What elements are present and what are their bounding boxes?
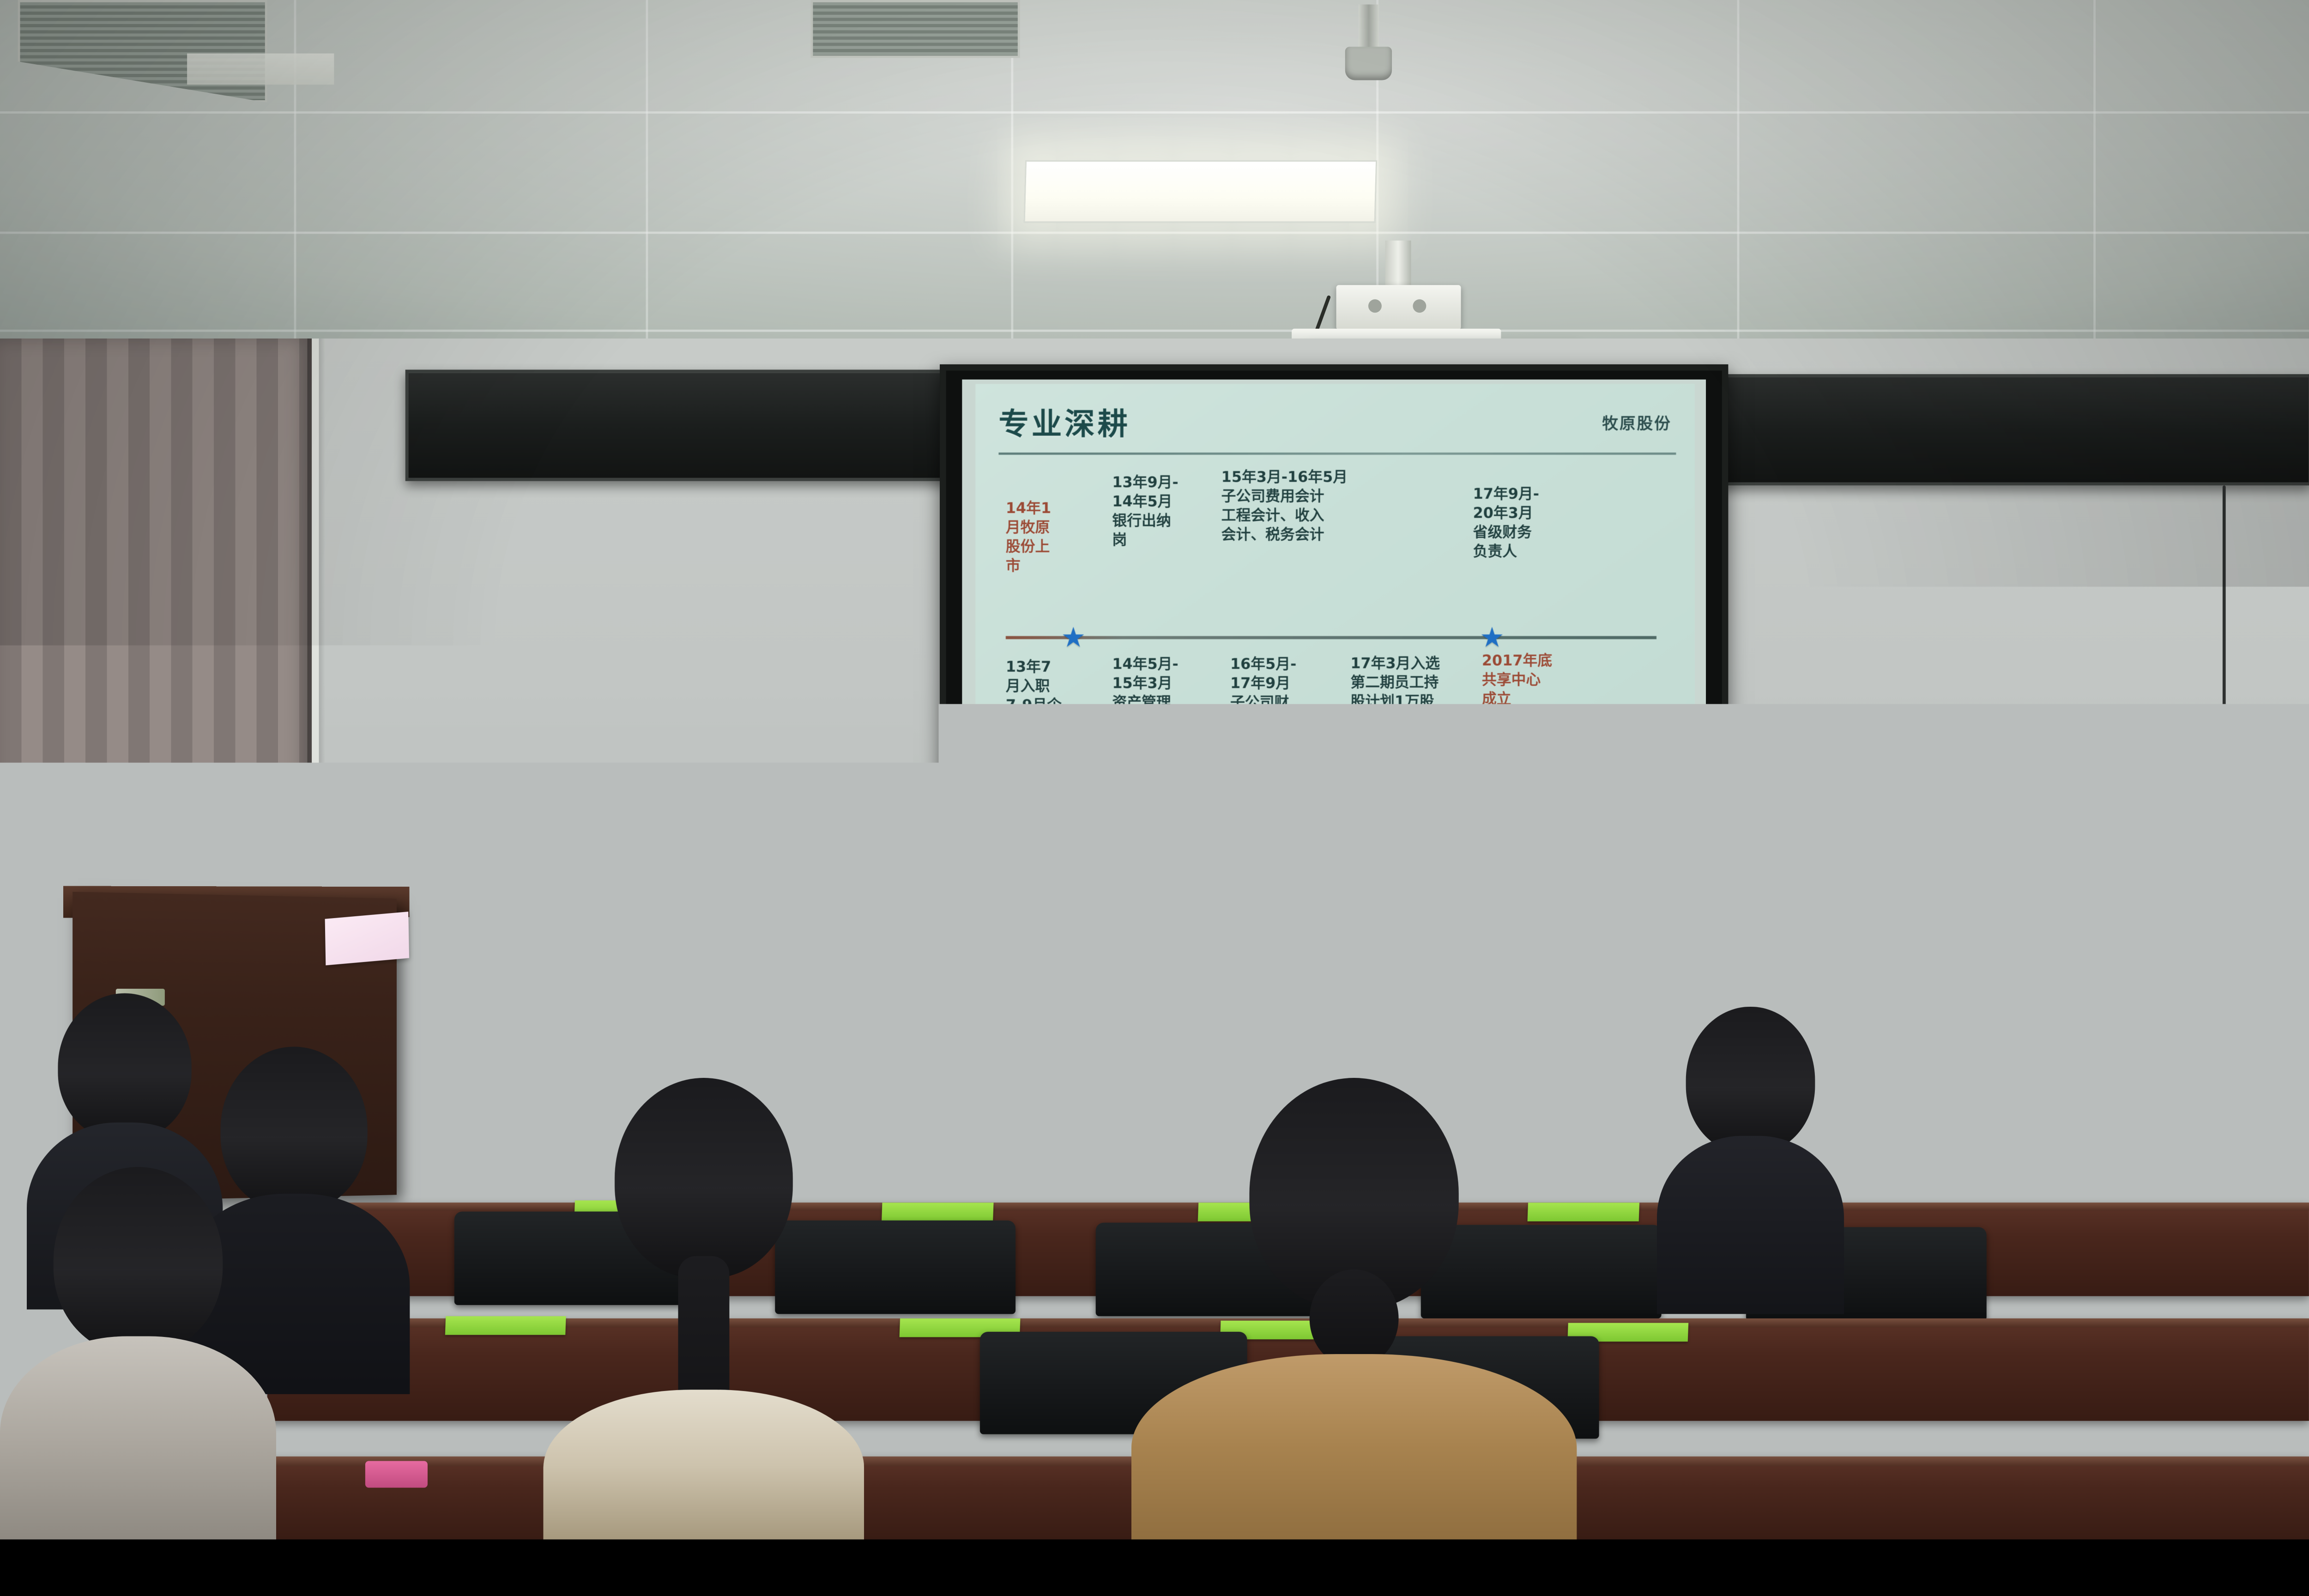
lecture-hall-scene: EPSON 专业深耕 牧原股份 ★ ★ 14年1 月牧原 股份上 市 13年9月… xyxy=(0,0,2309,1539)
ceiling-light-secondary xyxy=(187,54,334,85)
audience-torso xyxy=(1621,1421,1898,1540)
bracket-hole xyxy=(1368,299,1382,313)
timeline-entry: 2017年底 共享中心 成立 从核算财 务到业务 财务转型 xyxy=(1482,651,1593,766)
slide-header: 专业深耕 牧原股份 xyxy=(998,399,1676,458)
audience-member xyxy=(1862,1140,2111,1539)
audience-head xyxy=(615,1078,793,1278)
audience-member xyxy=(0,1167,276,1539)
timeline-entry: 15年3月-16年5月 子公司费用会计 工程会计、收入 会计、税务会计 xyxy=(1221,468,1413,544)
desk-item-pink xyxy=(365,1461,428,1488)
presentation-slide: 专业深耕 牧原股份 ★ ★ 14年1 月牧原 股份上 市 13年9月- 14年5… xyxy=(975,384,1695,856)
timeline-row-bottom: 13年7 月入职 7-9月企 业文化 培训 14年5月- 15年3月 资产管理 … xyxy=(998,645,1676,850)
bracket-hole xyxy=(1413,299,1426,313)
audience-head xyxy=(1686,1007,1815,1154)
ceiling-light-panel xyxy=(1024,160,1377,223)
audience-torso xyxy=(544,1390,864,1539)
audience-head xyxy=(54,1167,223,1354)
sprinkler-head-icon xyxy=(1345,47,1392,80)
presenter-fringe xyxy=(326,790,408,823)
projector-mount-bracket xyxy=(1336,285,1461,329)
timeline-axis xyxy=(1006,636,1656,639)
presenter-mouth xyxy=(357,853,377,860)
audience-member xyxy=(544,1078,864,1539)
presenter-eye xyxy=(373,828,387,832)
timeline-entry: 13年7 月入职 7-9月企 业文化 培训 xyxy=(1006,658,1095,753)
timeline-entry: 17年3月入选 第二期员工持 股计划1万股 17年7月入选 第三期员工持 股计划 xyxy=(1350,654,1484,768)
timeline-entry: 16年5月- 17年9月 子公司财 务负责人 xyxy=(1230,655,1342,731)
hair-clip-icon xyxy=(1960,1251,2004,1309)
timeline-entry: 13年9月- 14年5月 银行出纳 岗 xyxy=(1112,473,1219,549)
timeline-entry: 14年5月- 15年3月 资产管理 岗 xyxy=(1112,655,1223,731)
company-logo-text: 牧原股份 xyxy=(1602,411,1671,434)
audience-torso xyxy=(1862,1327,2111,1539)
wall-cable xyxy=(2223,485,2226,877)
audience-torso xyxy=(0,1336,276,1540)
audience-head xyxy=(1666,1229,1853,1439)
presenter-eye xyxy=(345,828,358,832)
timeline-entry: 14年1 月牧原 股份上 市 xyxy=(1006,499,1095,575)
slide-title: 专业深耕 xyxy=(998,399,1676,443)
audience-member xyxy=(1131,1078,1577,1539)
audience-torso xyxy=(1131,1354,1577,1539)
slide-title-rule xyxy=(998,453,1676,455)
audience-head xyxy=(1898,1140,2076,1345)
audience-hair-bun xyxy=(1310,1270,1399,1367)
desk-card xyxy=(882,1203,994,1221)
audience-head xyxy=(58,993,191,1140)
presenter-handout xyxy=(325,912,409,965)
timeline-entry: 17年9月- 20年3月 省级财务 负责人 xyxy=(1473,484,1589,561)
wall-beam-left xyxy=(405,370,953,481)
audience-member xyxy=(1621,1229,1898,1539)
timeline-row-top: 14年1 月牧原 股份上 市 13年9月- 14年5月 银行出纳 岗 15年3月… xyxy=(998,458,1676,632)
ceiling-vent xyxy=(810,0,1020,58)
wall-beam-right xyxy=(1719,374,2309,485)
career-timeline: ★ ★ 14年1 月牧原 股份上 市 13年9月- 14年5月 银行出纳 岗 1… xyxy=(998,458,1676,850)
